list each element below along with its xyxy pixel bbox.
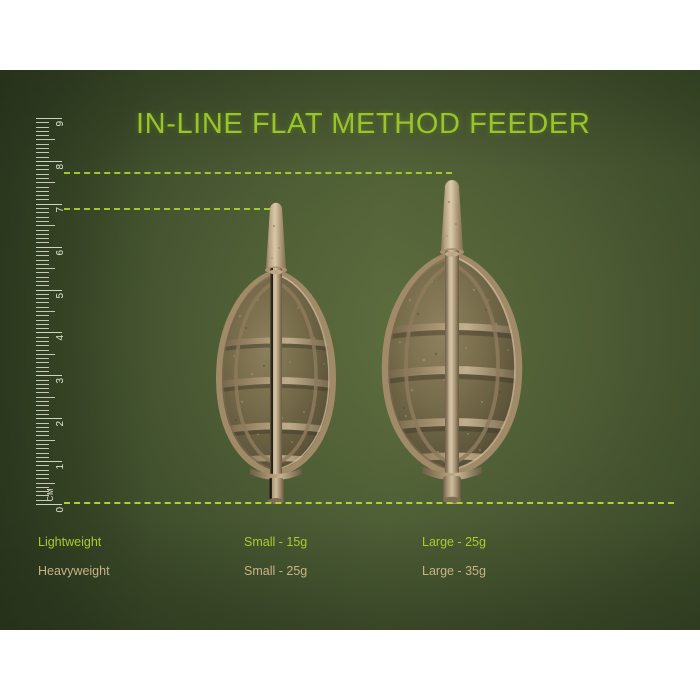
ruler-tick-minor (36, 465, 49, 466)
ruler-tick-major (36, 504, 62, 505)
ruler-tick-minor (36, 298, 49, 299)
ruler-tick-minor (36, 212, 49, 213)
ruler-tick-minor (36, 285, 49, 286)
guide-line-8cm (64, 172, 452, 174)
feeder-image-large (376, 176, 528, 506)
ruler-tick-minor (36, 453, 49, 454)
ruler-label-0: 0 (55, 506, 66, 512)
cm-ruler: 0123456789 CM (36, 118, 88, 504)
ruler-tick-minor (36, 401, 49, 402)
ruler-tick-minor (36, 165, 49, 166)
ruler-tick-minor (36, 384, 49, 385)
spec-row: HeavyweightSmall - 25gLarge - 35g (0, 557, 700, 586)
ruler-tick-minor (36, 152, 49, 153)
feeder-large-svg (376, 176, 528, 506)
spec-small-weight: Small - 25g (244, 557, 307, 586)
spec-row: LightweightSmall - 15gLarge - 25g (0, 528, 700, 557)
ruler-tick-minor (36, 127, 49, 128)
spec-small-weight: Small - 15g (244, 528, 307, 557)
ruler-tick-minor (36, 169, 49, 170)
ruler-tick-minor (36, 380, 49, 381)
ruler-tick-minor (36, 328, 49, 329)
feeder-small-svg (206, 196, 346, 506)
ruler-tick-minor (36, 431, 49, 432)
ruler-tick-minor (36, 320, 49, 321)
ruler-tick-minor (36, 182, 55, 183)
ruler-tick-minor (36, 362, 49, 363)
ruler-tick-minor (36, 242, 49, 243)
ruler-tick-minor (36, 311, 55, 312)
ruler-tick-minor (36, 174, 49, 175)
screenshot-root: IN-LINE FLAT METHOD FEEDER 0123456789 CM (0, 0, 700, 700)
ruler-label-6: 6 (55, 249, 66, 255)
ruler-tick-minor (36, 397, 55, 398)
ruler-tick-minor (36, 358, 49, 359)
ruler-tick-minor (36, 315, 49, 316)
ruler-tick-minor (36, 131, 49, 132)
ruler-tick-minor (36, 178, 49, 179)
ruler-tick-major (36, 247, 62, 248)
ruler-tick-minor (36, 221, 49, 222)
ruler-label-2: 2 (55, 421, 66, 427)
ruler-tick-minor (36, 157, 49, 158)
ruler-tick-minor (36, 264, 49, 265)
ruler-tick-minor (36, 423, 49, 424)
ruler-tick-minor (36, 144, 49, 145)
ruler-tick-minor (36, 435, 49, 436)
ruler-tick-minor (36, 272, 49, 273)
ruler-tick-minor (36, 448, 49, 449)
ruler-tick-minor (36, 294, 49, 295)
spec-large-weight: Large - 25g (422, 528, 486, 557)
ruler-tick-major (36, 418, 62, 419)
ruler-tick-minor (36, 208, 49, 209)
ruler-label-4: 4 (55, 335, 66, 341)
ruler-tick-major (36, 118, 62, 119)
ruler-tick-minor (36, 277, 49, 278)
ruler-tick-minor (36, 234, 49, 235)
ruler-tick-major (36, 461, 62, 462)
ruler-label-1: 1 (55, 464, 66, 470)
ruler-tick-major (36, 332, 62, 333)
ruler-label-9: 9 (55, 120, 66, 126)
spec-table: LightweightSmall - 15gLarge - 25gHeavywe… (0, 528, 700, 586)
ruler-tick-minor (36, 199, 49, 200)
ruler-tick-minor (36, 191, 49, 192)
ruler-label-8: 8 (55, 163, 66, 169)
ruler-tick-minor (36, 341, 49, 342)
ruler-tick-minor (36, 350, 49, 351)
ruler-tick-minor (36, 410, 49, 411)
ruler-tick-minor (36, 392, 49, 393)
ruler-tick-minor (36, 483, 55, 484)
ruler-tick-minor (36, 148, 49, 149)
ruler-tick-minor (36, 470, 49, 471)
ruler-tick-minor (36, 444, 49, 445)
ruler-tick-minor (36, 440, 55, 441)
ruler-tick-minor (36, 260, 49, 261)
ruler-label-5: 5 (55, 292, 66, 298)
ruler-tick-minor (36, 217, 49, 218)
ruler-tick-minor (36, 225, 55, 226)
ruler-tick-major (36, 290, 62, 291)
ruler-tick-minor (36, 478, 49, 479)
spec-large-weight: Large - 35g (422, 557, 486, 586)
ruler-tick-minor (36, 238, 49, 239)
spec-weight-class: Heavyweight (38, 557, 110, 586)
ruler-tick-minor (36, 281, 49, 282)
ruler-tick-major (36, 204, 62, 205)
ruler-tick-minor (36, 427, 49, 428)
ruler-tick-minor (36, 139, 55, 140)
ruler-tick-minor (36, 255, 49, 256)
ruler-tick-minor (36, 302, 49, 303)
ruler-tick-major (36, 375, 62, 376)
feeder-image-small (206, 196, 346, 506)
ruler-label-3: 3 (55, 378, 66, 384)
ruler-tick-minor (36, 187, 49, 188)
ruler-tick-minor (36, 405, 49, 406)
ruler-tick-minor (36, 135, 49, 136)
spec-weight-class: Lightweight (38, 528, 101, 557)
ruler-tick-minor (36, 371, 49, 372)
page-title: IN-LINE FLAT METHOD FEEDER (136, 108, 590, 141)
ruler-tick-minor (36, 457, 49, 458)
ruler-tick-minor (36, 388, 49, 389)
ruler-tick-minor (36, 251, 49, 252)
ruler-tick-minor (36, 345, 49, 346)
ruler-tick-major (36, 161, 62, 162)
ruler-tick-minor (36, 324, 49, 325)
guide-line-7cm (64, 208, 270, 210)
ruler-tick-minor (36, 337, 49, 338)
ruler-tick-minor (36, 414, 49, 415)
ruler-tick-minor (36, 367, 49, 368)
ruler-label-7: 7 (55, 206, 66, 212)
ruler-tick-minor (36, 122, 49, 123)
ruler-unit-label: CM (46, 487, 55, 501)
ruler-tick-minor (36, 307, 49, 308)
ruler-tick-minor (36, 230, 49, 231)
ruler-tick-minor (36, 195, 49, 196)
ruler-tick-minor (36, 268, 55, 269)
ruler-tick-minor (36, 474, 49, 475)
ruler-tick-minor (36, 354, 55, 355)
guide-line-baseline (64, 502, 674, 504)
